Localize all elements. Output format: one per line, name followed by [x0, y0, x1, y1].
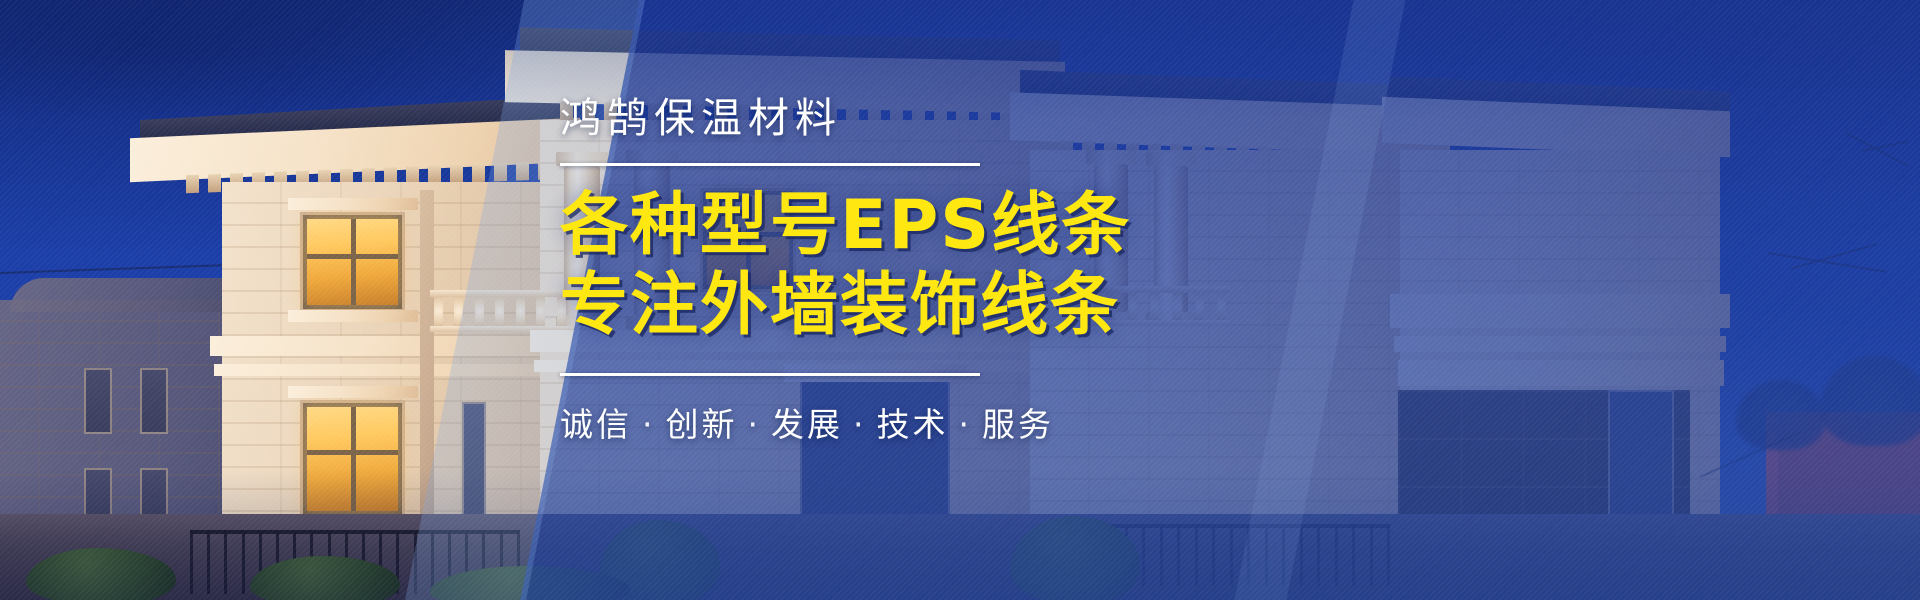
headline-line-2: 专注外墙装饰线条: [560, 266, 1260, 346]
narrow-window: [462, 402, 486, 522]
headline-line-1: 各种型号EPS线条: [560, 186, 1260, 266]
left-wing-window: [140, 368, 168, 434]
tagline: 诚信·创新·发展·技术·服务: [560, 398, 1260, 446]
banner-copy: 鸿鹄保温材料 各种型号EPS线条 专注外墙装饰线条 诚信·创新·发展·技术·服务: [560, 96, 1260, 446]
garage-lintel: [1398, 360, 1724, 386]
window-head: [288, 198, 418, 210]
window-sill: [288, 310, 418, 322]
headline-block: 各种型号EPS线条 专注外墙装饰线条: [560, 186, 1260, 346]
divider-rule-bottom: [560, 373, 980, 376]
lit-window: [300, 400, 405, 518]
villa-left-belt-course: [214, 364, 586, 376]
tagline-separator: ·: [642, 405, 656, 444]
tagline-item: 服务: [982, 405, 1054, 444]
tagline-item: 技术: [877, 405, 949, 444]
tagline-separator: ·: [853, 405, 867, 444]
garage-lintel: [1394, 336, 1726, 352]
window-mullion: [351, 219, 356, 305]
lit-window: [300, 212, 405, 312]
left-wing-window: [84, 368, 112, 434]
tagline-item: 诚信: [560, 405, 632, 444]
fence-rail: [1090, 524, 1390, 528]
tagline-item: 发展: [771, 405, 843, 444]
brand-name: 鸿鹄保温材料: [560, 96, 1260, 141]
tagline-separator: ·: [748, 405, 762, 444]
window-mullion: [351, 407, 356, 511]
garage-lintel: [1390, 294, 1730, 328]
promo-banner: 鸿鹄保温材料 各种型号EPS线条 专注外墙装饰线条 诚信·创新·发展·技术·服务: [0, 0, 1920, 600]
divider-rule-top: [560, 163, 980, 166]
fence-rail: [190, 530, 520, 534]
window-head: [288, 386, 418, 398]
tagline-item: 创新: [666, 405, 738, 444]
window-mullion: [307, 450, 398, 455]
window-mullion: [307, 254, 398, 259]
tagline-separator: ·: [959, 405, 973, 444]
